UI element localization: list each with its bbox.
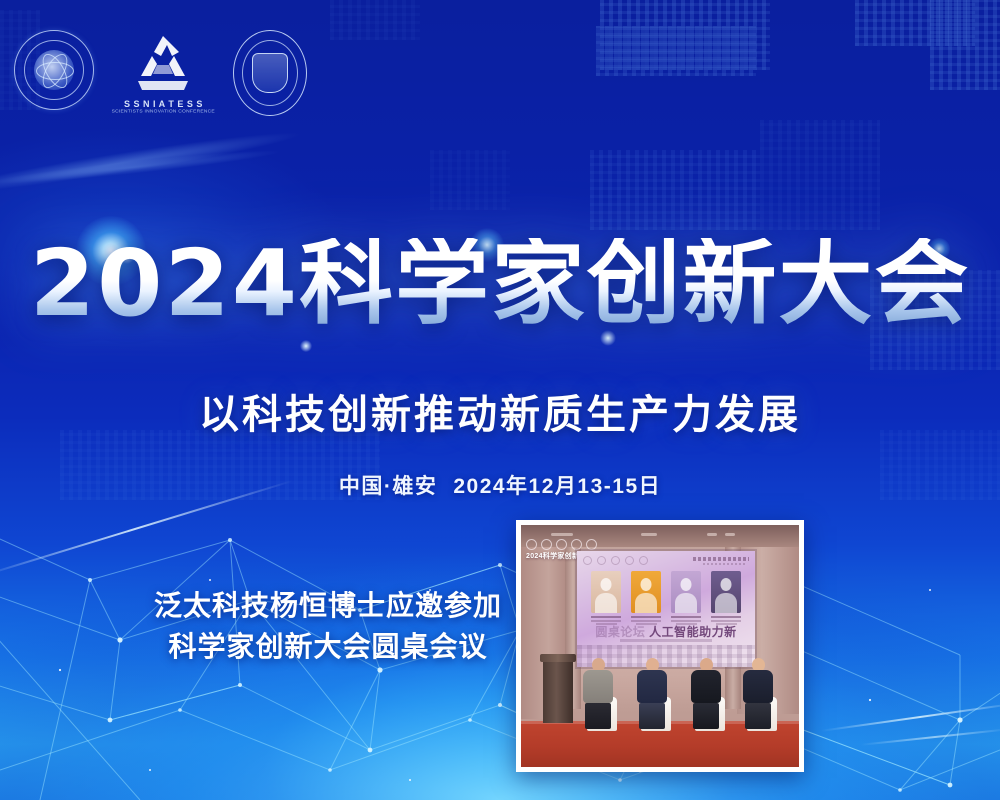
speaker-card (631, 571, 661, 625)
right-oval-logo (233, 30, 307, 116)
event-photo: 2024科学家创新大会 (521, 525, 799, 767)
poster-title: 2024科学家创新大会 (30, 238, 971, 330)
photo-panelist (743, 658, 773, 729)
shield-icon (252, 53, 288, 93)
background-light-sweep-secondary (0, 98, 374, 232)
screen-session-title: 圆桌论坛 人工智能助力新 (577, 623, 755, 640)
caption-line-1: 泛太科技杨恒博士应邀参加 (128, 586, 528, 627)
presentation-screen: 圆桌论坛 人工智能助力新 (577, 551, 755, 667)
triangle-logo-tagline: SCIENTISTS INNOVATION CONFERENCE (112, 108, 215, 113)
conference-poster: S S N I A T E S S SCIENTISTS INNOVATION … (0, 0, 1000, 800)
event-photo-frame: 2024科学家创新大会 (516, 520, 804, 772)
speaker-card (671, 571, 701, 625)
photo-panelist (583, 658, 613, 729)
event-date: 2024年12月13-15日 (453, 475, 661, 498)
photo-overlay-icons (526, 539, 597, 550)
light-streak-right (821, 702, 1000, 732)
speaker-card (591, 571, 621, 625)
poster-subtitle: 以科技创新推动新质生产力发展 (0, 382, 1000, 440)
speaker-photo (631, 571, 661, 613)
left-seal-logo (14, 30, 94, 110)
speaker-photo (671, 571, 701, 613)
screen-session-title-main: 人工智能助力新 (649, 625, 737, 639)
screen-session-subtitle (620, 639, 713, 642)
speaker-card (711, 571, 741, 625)
poster-title-container: 2024科学家创新大会 (0, 238, 1000, 330)
caption-line-2: 科学家创新大会圆桌会议 (128, 627, 528, 668)
poster-meta: 中国·雄安2024年12月13-15日 (0, 470, 1000, 500)
photo-panelist (637, 658, 667, 729)
screen-brand-sub (703, 563, 747, 565)
screen-brand-mark (693, 557, 749, 561)
triangle-mark-icon (126, 32, 200, 96)
photo-podium (543, 659, 573, 723)
poster-caption: 泛太科技杨恒博士应邀参加 科学家创新大会圆桌会议 (128, 586, 528, 668)
speaker-photo (711, 571, 741, 613)
screen-header-icons (583, 556, 648, 565)
organizer-logos: S S N I A T E S S SCIENTISTS INNOVATION … (14, 30, 307, 116)
speaker-photo (591, 571, 621, 613)
light-spark-two (300, 340, 312, 352)
screen-session-title-dim: 圆桌论坛 (595, 625, 645, 639)
seal-outer-ring (14, 30, 94, 110)
oval-inner-ring (242, 40, 298, 106)
atom-icon (34, 50, 74, 90)
light-streak-right-two (860, 728, 1000, 746)
oval-outer-ring (233, 30, 307, 116)
center-triangle-logo: S S N I A T E S S SCIENTISTS INNOVATION … (124, 30, 203, 113)
screen-speaker-portraits (591, 571, 741, 625)
event-location: 中国·雄安 (339, 475, 438, 498)
photo-panelist (691, 658, 721, 729)
seal-inner-ring (24, 40, 84, 100)
